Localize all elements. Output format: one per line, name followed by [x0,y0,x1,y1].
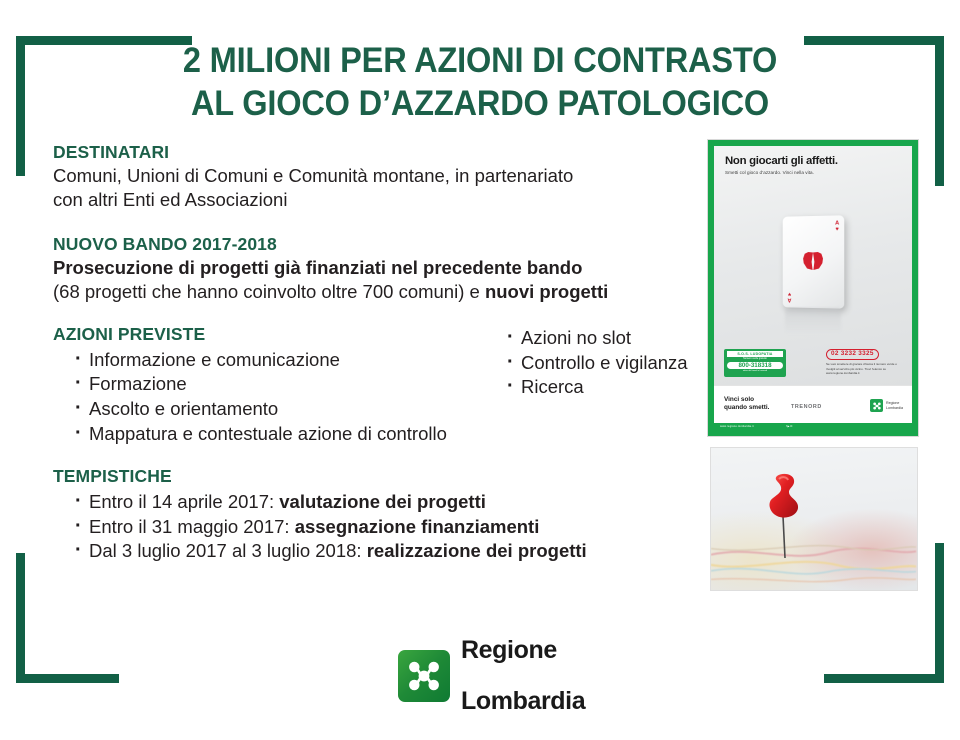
spacer [53,212,703,234]
destinatari-line-2: con altri Enti ed Associazioni [53,188,703,212]
bando-bold-line: Prosecuzione di progetti già finanziati … [53,257,582,278]
poster-upper-area: Non giocarti gli affetti. Smetti col gio… [714,146,912,385]
card-reflection [785,308,841,334]
list-item: Entro il 31 maggio 2017: assegnazione fi… [75,515,703,540]
logo-line-1: Regione [461,638,585,664]
spacer [53,446,703,466]
tempistiche-bold: realizzazione dei progetti [367,540,587,561]
logo-line-2: Lombardia [461,689,585,715]
tempistiche-list: Entro il 14 aprile 2017: valutazione dei… [53,490,703,564]
section-tempistiche: TEMPISTICHE Entro il 14 aprile 2017: val… [53,466,703,564]
sos-note: attivo dal lunedì al venerdì [727,370,783,372]
map-lines-graphic [711,530,916,590]
broken-heart-icon [803,252,823,270]
rosa-camuna-icon [398,650,450,702]
sos-number: 800-318318 [727,362,783,369]
tempistiche-bold: valutazione dei progetti [279,491,486,512]
poster-footer-bar: www.regione.lombardia.it f ▶ ✉ [714,423,912,430]
section-nuovo-bando: NUOVO BANDO 2017-2018 Prosecuzione di pr… [53,234,703,304]
section-azioni-previste: AZIONI PREVISTE Informazione e comunicaz… [53,324,703,446]
list-item: Dal 3 luglio 2017 al 3 luglio 2018: real… [75,539,703,564]
list-item: Ascolto e orientamento [75,397,703,422]
poster-claim: Vinci solo quando smetti. [724,396,769,413]
section-heading-nuovo-bando: NUOVO BANDO 2017-2018 [53,234,703,256]
red-pushpin-icon [763,470,809,562]
sos-subtitle: Numero verde gratuito [727,358,783,361]
ace-of-hearts-card-icon: A♥ A♥ [783,215,845,308]
bando-bold-part: nuovi progetti [485,281,608,302]
poster-headline: Non giocarti gli affetti. [725,156,901,168]
section-heading-destinatari: DESTINATARI [53,142,703,164]
azioni-list-right: Azioni no slot Controllo e vigilanza Ric… [485,326,715,400]
sos-ludopatia-badge: S.O.S. LUDOPATIA Numero verde gratuito 8… [724,349,786,377]
poster-subhead: Smetti col gioco d’azzardo. Vinci nella … [725,170,901,175]
poster-footer-social: f ▶ ✉ [786,425,792,428]
campaign-poster-image: Non giocarti gli affetti. Smetti col gio… [708,140,918,436]
list-item: Azioni no slot [507,326,715,351]
list-item: Ricerca [507,375,715,400]
card-suit-top: ♥ [835,227,839,233]
poster-phone-box: 02 3232 3325 Se vuoi smettere di giocare… [826,349,904,375]
section-heading-tempistiche: TEMPISTICHE [53,466,703,488]
poster-claim-line-1: Vinci solo [724,396,769,404]
pushpin-photo [711,448,917,590]
tempistiche-bold: assegnazione finanziamenti [295,516,540,537]
rosa-camuna-icon [870,399,883,412]
tempistiche-prefix: Dal 3 luglio 2017 al 3 luglio 2018: [89,540,367,561]
bando-regular-part: (68 progetti che hanno coinvolto oltre 7… [53,281,485,302]
poster-phone-note: Se vuoi smettere di giocare chiama il nu… [826,362,904,375]
poster-regione-line-2: Lombardia [886,406,903,410]
azioni-right-column: Azioni no slot Controllo e vigilanza Ric… [485,324,715,400]
poster-footer-url: www.regione.lombardia.it [720,425,754,428]
tempistiche-prefix: Entro il 31 maggio 2017: [89,516,295,537]
poster-regione-lombardia-logo: Regione Lombardia [870,399,903,412]
list-item: Mappatura e contestuale azione di contro… [75,422,703,447]
tempistiche-prefix: Entro il 14 aprile 2017: [89,491,279,512]
card-suit-bottom: ♥ [788,290,792,296]
poster-footer-area: Vinci solo quando smetti. TRENORD [714,385,912,430]
slide-title: 2 MILIONI PER AZIONI DI CONTRASTO AL GIO… [89,40,870,125]
destinatari-line-1: Comuni, Unioni di Comuni e Comunità mont… [53,164,703,188]
spacer [53,304,703,324]
logo-wordmark: Regione Lombardia [461,612,585,740]
list-item: Controllo e vigilanza [507,351,715,376]
list-item: Entro il 14 aprile 2017: valutazione dei… [75,490,703,515]
poster-claim-line-2: quando smetti. [724,404,769,412]
slide-canvas: 2 MILIONI PER AZIONI DI CONTRASTO AL GIO… [0,0,960,719]
content-column: DESTINATARI Comuni, Unioni di Comuni e C… [53,142,703,564]
bando-mixed-line: (68 progetti che hanno coinvolto oltre 7… [53,280,703,304]
section-destinatari: DESTINATARI Comuni, Unioni di Comuni e C… [53,142,703,212]
trenord-logo: TRENORD [791,404,822,410]
poster-phone-number: 02 3232 3325 [826,349,879,360]
regione-lombardia-logo: Regione Lombardia [398,612,585,740]
